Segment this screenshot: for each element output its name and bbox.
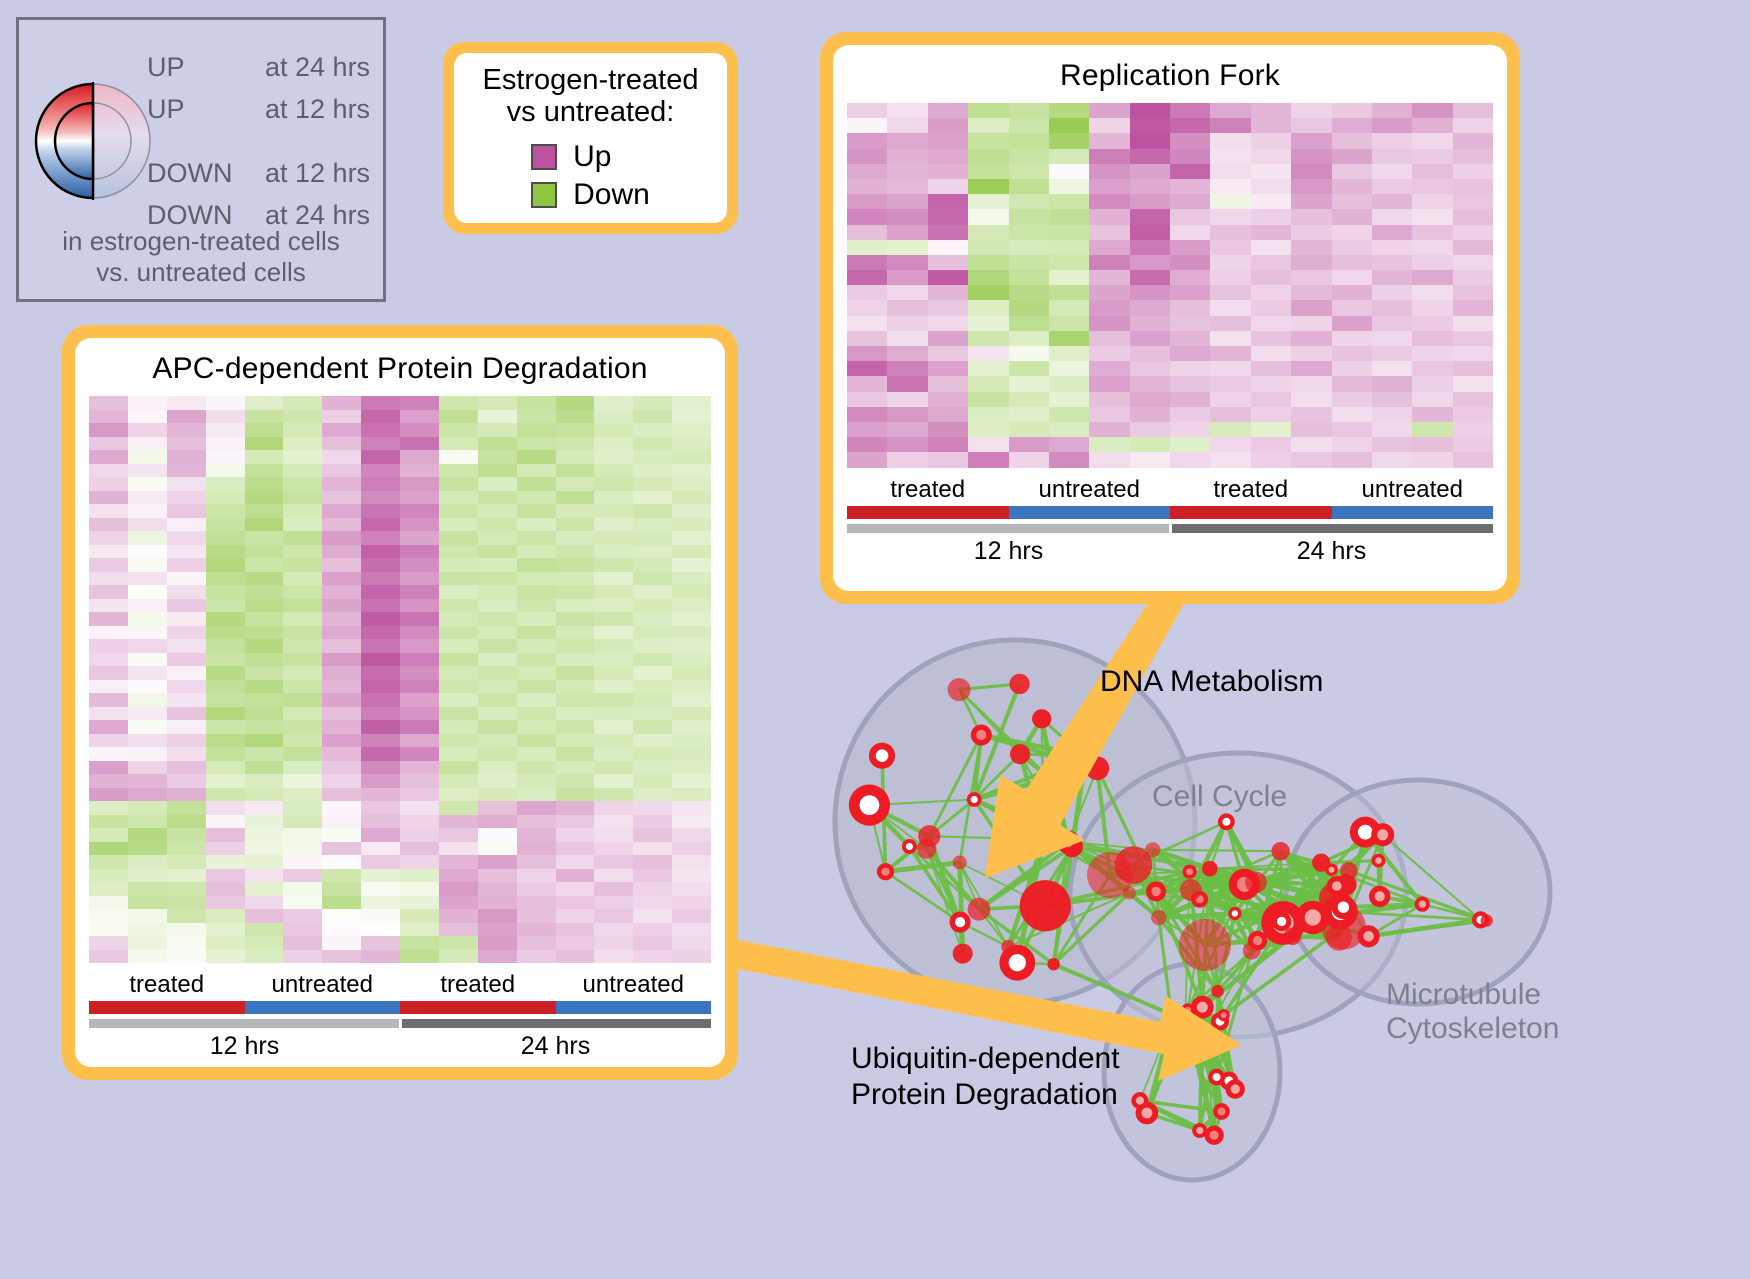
heatmap-cell [1453, 437, 1493, 452]
heatmap-cell [245, 680, 284, 694]
heatmap-cell [633, 599, 672, 613]
label-cytoskeleton: Cytoskeleton [1386, 1012, 1559, 1046]
heatmap-cell [361, 612, 400, 626]
heatmap-cell [672, 774, 711, 788]
network-node [1372, 854, 1386, 868]
heatmap-cell [439, 734, 478, 748]
timepoint-bar-24h [1172, 524, 1494, 533]
heatmap-cell [1251, 118, 1291, 133]
heatmap-cell [1372, 392, 1412, 407]
label-cell-cycle: Cell Cycle [1152, 780, 1287, 814]
heatmap-cell [400, 437, 439, 451]
heatmap-cell [361, 869, 400, 883]
heatmap-cell [1453, 133, 1493, 148]
network-edge [1044, 756, 1086, 840]
network-edge [1153, 850, 1159, 918]
heatmap-cell [1453, 225, 1493, 240]
group-label: treated [847, 476, 1009, 504]
heatmap-cell [167, 612, 206, 626]
heatmap-cell [400, 410, 439, 424]
heatmap-cell [89, 693, 128, 707]
heatmap-cell [478, 936, 517, 950]
label-dna-metabolism: DNA Metabolism [1100, 665, 1323, 699]
network-edge [1054, 847, 1073, 965]
heatmap-cell [1251, 209, 1291, 224]
heatmap-cell [322, 761, 361, 775]
heatmap-cell [400, 869, 439, 883]
network-node [1085, 756, 1109, 780]
label-ubiquitin-line2: Protein Degradation [851, 1078, 1118, 1112]
network-edge [1190, 872, 1200, 900]
heatmap-cell [1251, 300, 1291, 315]
heatmap-cell [245, 639, 284, 653]
heatmap-cell [594, 693, 633, 707]
heatmap-cell [283, 599, 322, 613]
heatmap-cell [245, 747, 284, 761]
heatmap-cell [556, 410, 595, 424]
network-edge [1252, 941, 1258, 951]
network-edge [1217, 951, 1252, 1077]
heatmap-cell [439, 950, 478, 964]
heatmap-cell [517, 909, 556, 923]
network-node [1326, 925, 1352, 951]
heatmap-cell [1009, 255, 1049, 270]
heatmap-cell [556, 923, 595, 937]
network-node [1009, 674, 1029, 694]
heatmap-cell [556, 653, 595, 667]
network-edge [1256, 870, 1332, 883]
heatmap-cell [1332, 270, 1372, 285]
heatmap-cell [439, 545, 478, 559]
heatmap-cell [1089, 407, 1129, 422]
heatmap-cell [1049, 285, 1089, 300]
network-node-core [1196, 895, 1204, 903]
heatmap-cell [322, 572, 361, 586]
network-edge [1188, 1010, 1222, 1111]
heatmap-cell [594, 585, 633, 599]
time-label-12h: 12 hrs [847, 537, 1170, 566]
heatmap-cell [928, 164, 968, 179]
heatmap-cell [478, 693, 517, 707]
heatmap-cell [206, 761, 245, 775]
network-node [1332, 895, 1356, 919]
heatmap-cell [672, 936, 711, 950]
heatmap-cell [1291, 422, 1331, 437]
heatmap-cell [1170, 331, 1210, 346]
network-edge [1020, 719, 1042, 754]
group-label: untreated [245, 971, 401, 999]
heatmap-cell [361, 423, 400, 437]
heatmap-cell [847, 209, 887, 224]
heatmap-cell [89, 815, 128, 829]
network-edge [1244, 884, 1283, 923]
network-node [1312, 854, 1330, 872]
heatmap-cell [245, 599, 284, 613]
network-edge [1190, 872, 1203, 1007]
heatmap-cell [1291, 316, 1331, 331]
network-edge [974, 800, 1044, 840]
heatmap-cell [556, 491, 595, 505]
network-edge [1110, 822, 1226, 875]
network-edge [1159, 918, 1205, 945]
network-node-core [955, 917, 965, 927]
heatmap-cell [283, 734, 322, 748]
heatmap-cell [928, 270, 968, 285]
heatmap-cell [439, 437, 478, 451]
heatmap-apc: treated untreated treated untreated 12 h [89, 396, 711, 1061]
network-edge [1129, 890, 1190, 893]
network-node [953, 944, 973, 964]
heatmap-cell [478, 396, 517, 410]
heatmap-cell [1009, 407, 1049, 422]
network-edge [1313, 863, 1321, 918]
heatmap-cell [1130, 361, 1170, 376]
heatmap-cell [478, 801, 517, 815]
group-label: treated [89, 971, 245, 999]
heatmap-cell [672, 437, 711, 451]
heatmap-cell [283, 558, 322, 572]
heatmap-cell [1291, 346, 1331, 361]
heatmap-cell [478, 437, 517, 451]
network-edge [1321, 863, 1339, 938]
heatmap-cell [361, 909, 400, 923]
heatmap-group-labels: treated untreated treated untreated [847, 476, 1493, 504]
heatmap-cell [1453, 103, 1493, 118]
heatmap-cell [556, 680, 595, 694]
panel-title-apc: APC-dependent Protein Degradation [89, 352, 711, 386]
heatmap-cell [1049, 270, 1089, 285]
heatmap-cell [167, 842, 206, 856]
heatmap-cell [1130, 240, 1170, 255]
network-edge [1205, 884, 1244, 945]
heatmap-cell [1453, 452, 1493, 467]
heatmap-cell [517, 396, 556, 410]
heatmap-cell [847, 392, 887, 407]
network-edge [1217, 1077, 1222, 1111]
heatmap-cell [633, 626, 672, 640]
heatmap-cell [633, 639, 672, 653]
heatmap-cell [1251, 149, 1291, 164]
heatmap-cell [1009, 452, 1049, 467]
network-node [1248, 931, 1267, 950]
heatmap-cell [556, 950, 595, 964]
network-node [1481, 914, 1493, 926]
heatmap-cell [206, 396, 245, 410]
heatmap-cell [400, 909, 439, 923]
heatmap-cell [517, 923, 556, 937]
heatmap-cell [1412, 225, 1452, 240]
heatmap-cell [361, 585, 400, 599]
network-edge [1068, 842, 1110, 875]
spacer [147, 130, 370, 152]
heatmap-cell [556, 450, 595, 464]
up-swatch-icon [531, 144, 557, 170]
heatmap-cell [594, 707, 633, 721]
heatmap-cell [928, 194, 968, 209]
heatmap-cell [672, 882, 711, 896]
network-edge [1205, 886, 1337, 945]
heatmap-cell [167, 693, 206, 707]
network-edge [1017, 963, 1053, 965]
heatmap-cell [89, 882, 128, 896]
heatmap-cell [361, 653, 400, 667]
heatmap-cell [400, 923, 439, 937]
panel-title-replication-fork: Replication Fork [847, 59, 1493, 93]
heatmap-cell [968, 392, 1008, 407]
network-edge [1256, 882, 1346, 884]
network-edge [1042, 719, 1098, 769]
heatmap-cell [245, 801, 284, 815]
network-edge [979, 909, 1054, 964]
network-node [1323, 894, 1358, 929]
heatmap-cell [89, 666, 128, 680]
heatmap-cell [1009, 331, 1049, 346]
heatmap-cell [517, 815, 556, 829]
heatmap-cell [594, 923, 633, 937]
heatmap-cell [128, 545, 167, 559]
network-edge [1218, 914, 1235, 992]
heatmap-cell [594, 909, 633, 923]
network-node-core [1136, 1097, 1144, 1105]
heatmap-cell [1251, 437, 1291, 452]
heatmap-cell [1372, 422, 1412, 437]
heatmap-cell [1210, 437, 1250, 452]
network-edge [1190, 872, 1235, 914]
heatmap-cell [439, 410, 478, 424]
scale-time: at 12 hrs [265, 158, 370, 189]
network-node-core [1222, 818, 1230, 826]
network-node-core [1332, 881, 1342, 891]
heatmap-cell [89, 774, 128, 788]
heatmap-cell [322, 464, 361, 478]
heatmap-cell [594, 788, 633, 802]
heatmap-cell [1210, 149, 1250, 164]
network-node-core [1363, 931, 1374, 942]
network-edge [1205, 945, 1218, 991]
heatmap-cell [478, 680, 517, 694]
heatmap-cell [1170, 285, 1210, 300]
heatmap-cell [167, 504, 206, 518]
network-edge [1369, 920, 1481, 936]
network-edge [959, 684, 1020, 690]
heatmap-cell [361, 707, 400, 721]
heatmap-cell [128, 653, 167, 667]
heatmap-cell [517, 612, 556, 626]
network-node [1208, 1069, 1225, 1086]
heatmap-cell [478, 855, 517, 869]
network-edge [1332, 870, 1349, 871]
heatmap-cell [322, 896, 361, 910]
heatmap-cell [478, 423, 517, 437]
heatmap-cell [1251, 452, 1291, 467]
network-edge [1159, 869, 1210, 918]
heatmap-cell [478, 410, 517, 424]
network-edge [1185, 1020, 1216, 1077]
heatmap-cell [1089, 179, 1129, 194]
heatmap-cell [1291, 437, 1331, 452]
heatmap-cell [517, 693, 556, 707]
timepoint-bar-24h [402, 1019, 712, 1028]
network-edge [1045, 872, 1189, 906]
heatmap-cell [1130, 422, 1170, 437]
heatmap-cell [206, 720, 245, 734]
heatmap-cell [1453, 392, 1493, 407]
heatmap-cell [89, 936, 128, 950]
heatmap-cell [478, 450, 517, 464]
network-edge [1334, 898, 1344, 927]
network-edge [1235, 914, 1293, 937]
network-node-core [1477, 916, 1485, 924]
heatmap-cell [556, 855, 595, 869]
heatmap-cell [478, 774, 517, 788]
heatmap-cell [322, 909, 361, 923]
heatmap-cell [478, 869, 517, 883]
heatmap-cell [556, 828, 595, 842]
heatmap-cell [633, 815, 672, 829]
heatmap-cell [361, 477, 400, 491]
heatmap-cell [206, 626, 245, 640]
heatmap-cell [89, 707, 128, 721]
network-node [1202, 861, 1218, 877]
heatmap-cell [128, 896, 167, 910]
network-edge [1235, 907, 1344, 913]
heatmap-cell [847, 452, 887, 467]
network-edge [1244, 884, 1251, 950]
heatmap-cell [672, 639, 711, 653]
heatmap-cell [1170, 255, 1210, 270]
heatmap-cell [478, 666, 517, 680]
heatmap-cell [400, 950, 439, 964]
heatmap-cell [478, 815, 517, 829]
heatmap-cell [1210, 255, 1250, 270]
heatmap-cell [1412, 118, 1452, 133]
heatmap-cell [847, 164, 887, 179]
network-edge [959, 690, 981, 735]
heatmap-cell [128, 774, 167, 788]
network-node [1211, 985, 1224, 998]
network-edge [1185, 936, 1292, 1020]
heatmap-cell [1251, 346, 1291, 361]
heatmap-cell [594, 747, 633, 761]
heatmap-cell [1453, 270, 1493, 285]
heatmap-cell [478, 626, 517, 640]
network-edge [1054, 893, 1130, 964]
heatmap-cell [594, 410, 633, 424]
heatmap-cell [245, 653, 284, 667]
network-edge [1191, 890, 1313, 918]
network-edge [1380, 896, 1423, 904]
heatmap-cell [89, 639, 128, 653]
heatmap-cell [517, 423, 556, 437]
network-edge [1343, 904, 1422, 907]
network-node [1146, 881, 1166, 901]
network-node [1145, 842, 1160, 857]
heatmap-cell [594, 545, 633, 559]
heatmap-cell [1049, 225, 1089, 240]
heatmap-cell [1372, 118, 1412, 133]
network-edge [1343, 871, 1348, 908]
heatmap-cell [322, 666, 361, 680]
heatmap-cell [1130, 225, 1170, 240]
heatmap-cell [283, 788, 322, 802]
heatmap-cell [206, 464, 245, 478]
network-node-core [1218, 1107, 1226, 1115]
heatmap-cell [633, 504, 672, 518]
network-edge [974, 754, 1020, 799]
heatmap-cell [439, 639, 478, 653]
network-edge [1281, 851, 1282, 921]
heatmap-cell [361, 693, 400, 707]
heatmap-cell [1291, 270, 1331, 285]
heatmap-cell [1291, 392, 1331, 407]
heatmap-cell [206, 842, 245, 856]
heatmap-cell [1049, 316, 1089, 331]
heatmap-cell [322, 558, 361, 572]
heatmap-cell [556, 707, 595, 721]
heatmap-cell [594, 774, 633, 788]
heatmap-cell [283, 747, 322, 761]
heatmap-cell [633, 855, 672, 869]
network-node [1115, 846, 1153, 884]
network-edge [1156, 891, 1202, 1007]
heatmap-cell [1372, 240, 1412, 255]
heatmap-cell [89, 923, 128, 937]
heatmap-cell [1332, 209, 1372, 224]
network-edge [1244, 884, 1292, 936]
heatmap-cell [245, 410, 284, 424]
network-node [1271, 842, 1289, 860]
heatmap-cell [1412, 422, 1452, 437]
heatmap-cell [283, 585, 322, 599]
network-edge [960, 922, 1008, 947]
network-edge [1072, 847, 1156, 892]
heatmap-cell [594, 869, 633, 883]
network-edge [1258, 921, 1282, 940]
heatmap-cell [245, 882, 284, 896]
down-label: Down [573, 178, 650, 212]
heatmap-cell [89, 909, 128, 923]
heatmap-cell [556, 896, 595, 910]
network-node [1218, 1009, 1230, 1021]
heatmap-cell [847, 103, 887, 118]
heatmap-cell [594, 599, 633, 613]
heatmap-cell [887, 376, 927, 391]
network-edge [979, 906, 1045, 910]
heatmap-cell [322, 855, 361, 869]
heatmap-cell [1049, 240, 1089, 255]
heatmap-cell [245, 869, 284, 883]
network-edge [1140, 1101, 1200, 1131]
heatmap-cell [847, 346, 887, 361]
heatmap-cell [556, 572, 595, 586]
heatmap-cell [283, 693, 322, 707]
heatmap-cell [400, 504, 439, 518]
heatmap-cell [887, 240, 927, 255]
heatmap-cell [594, 626, 633, 640]
heatmap-cell [1049, 300, 1089, 315]
heatmap-cell [1372, 300, 1412, 315]
heatmap-cell [968, 179, 1008, 194]
heatmap-cell [400, 734, 439, 748]
heatmap-cell [1170, 118, 1210, 133]
network-edge [1110, 875, 1159, 918]
network-node [869, 743, 895, 769]
heatmap-cell [1332, 118, 1372, 133]
heatmap-cell [594, 558, 633, 572]
heatmap-cell [361, 491, 400, 505]
heatmap-cell [594, 950, 633, 964]
network-edge [1379, 861, 1380, 897]
